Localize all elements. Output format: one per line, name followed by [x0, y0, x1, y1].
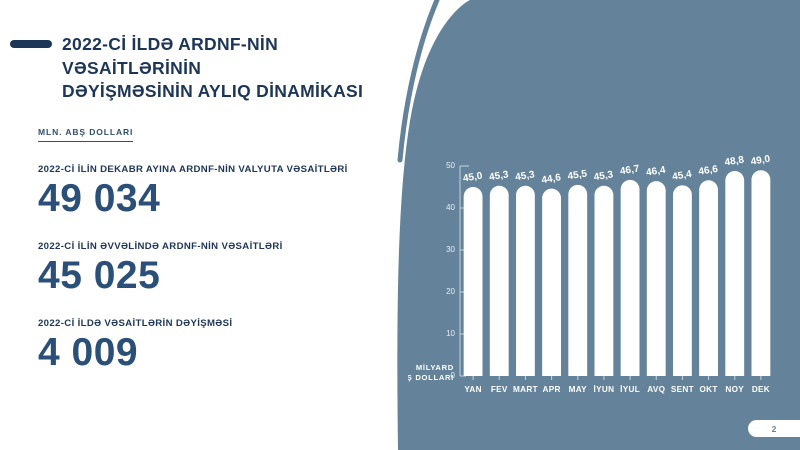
page-number-badge: 2: [748, 420, 800, 437]
x-tick-label: SENT: [671, 385, 694, 394]
bar-value-label: 45,4: [672, 169, 693, 183]
bar: [542, 189, 561, 376]
bar-value-label: 49,0: [750, 154, 771, 168]
x-tick-label: NOY: [725, 385, 744, 394]
bar: [516, 186, 535, 376]
x-tick-label: DEK: [752, 385, 770, 394]
bar-chart-svg: 01020304050 45,045,345,344,645,545,346,7…: [408, 148, 778, 398]
x-tick-label: APR: [542, 385, 560, 394]
bar: [647, 181, 666, 376]
page-title: 2022-Cİ İLDƏ ARDNF-NİN VƏSAİTLƏRİNİN DƏY…: [10, 33, 410, 104]
stat-caption-1: 2022-Cİ İLİN ƏVVƏLİNDƏ ARDNF-NİN VƏSAİTL…: [38, 241, 388, 252]
bars-group: 45,045,345,344,645,545,346,746,445,446,6…: [462, 154, 771, 376]
stat-caption-2: 2022-Cİ İLDƏ VƏSAİTLƏRİN DƏYİŞMƏSİ: [38, 318, 388, 329]
y-tick-label: 10: [446, 329, 455, 338]
title-accent-bar: [10, 40, 52, 48]
x-tick-label: MART: [513, 385, 538, 394]
bar-value-label: 44,6: [541, 172, 562, 186]
bar-value-label: 45,3: [488, 169, 509, 183]
bar: [464, 187, 483, 376]
y-tick-label: 40: [446, 203, 455, 212]
stat-caption-0: 2022-Cİ İLİN DEKABR AYINA ARDNF-NİN VALY…: [38, 164, 388, 175]
bar-value-label: 45,5: [567, 168, 588, 182]
bar-value-label: 45,0: [462, 171, 483, 185]
title-text-wrap: 2022-Cİ İLDƏ ARDNF-NİN VƏSAİTLƏRİNİN DƏY…: [62, 33, 410, 104]
x-tick-label: FEV: [491, 385, 508, 394]
bar: [699, 180, 718, 376]
y-tick-label: 30: [446, 245, 455, 254]
title-line-1: 2022-Cİ İLDƏ ARDNF-NİN VƏSAİTLƏRİNİN: [62, 33, 410, 80]
bar-value-label: 46,6: [698, 164, 719, 178]
bar-value-label: 46,4: [645, 165, 666, 179]
x-tick-label: AVQ: [647, 385, 665, 394]
bar: [751, 170, 770, 376]
bar-value-label: 45,3: [593, 169, 614, 183]
bar-value-label: 46,7: [619, 163, 640, 177]
bar: [490, 186, 509, 376]
y-axis-caption-line1: MİLYARD: [416, 363, 454, 372]
x-axis: YANFEVMARTAPRMAYİYUNİYULAVQSENTOKTNOYDEK: [464, 376, 770, 394]
bar: [568, 185, 587, 376]
bar-chart: 01020304050 45,045,345,344,645,545,346,7…: [408, 148, 778, 398]
x-tick-label: YAN: [464, 385, 481, 394]
x-tick-label: OKT: [699, 385, 717, 394]
bar: [621, 180, 640, 376]
x-tick-label: İYUN: [594, 384, 615, 394]
stat-value-1: 45 025: [38, 256, 388, 296]
x-tick-label: MAY: [569, 385, 588, 394]
slide-root: 2022-Cİ İLDƏ ARDNF-NİN VƏSAİTLƏRİNİN DƏY…: [0, 0, 800, 450]
bar: [594, 186, 613, 376]
unit-label: MLN. ABŞ DOLLARI: [38, 127, 133, 142]
x-tick-label: İYUL: [620, 384, 640, 394]
bar: [673, 185, 692, 376]
stat-value-2: 4 009: [38, 333, 388, 373]
y-tick-label: 20: [446, 287, 455, 296]
page-number-text: 2: [772, 424, 777, 434]
y-axis-caption-line2: ABŞ DOLLARI: [408, 373, 454, 382]
stat-value-0: 49 034: [38, 179, 388, 219]
y-tick-label: 50: [446, 161, 455, 170]
bar-value-label: 45,3: [515, 169, 536, 183]
title-line-2: DƏYİŞMƏSİNİN AYLIQ DİNAMİKASI: [62, 80, 410, 104]
bar: [725, 171, 744, 376]
stats-panel: MLN. ABŞ DOLLARI 2022-Cİ İLİN DEKABR AYI…: [38, 122, 388, 372]
bar-value-label: 48,8: [724, 155, 745, 169]
